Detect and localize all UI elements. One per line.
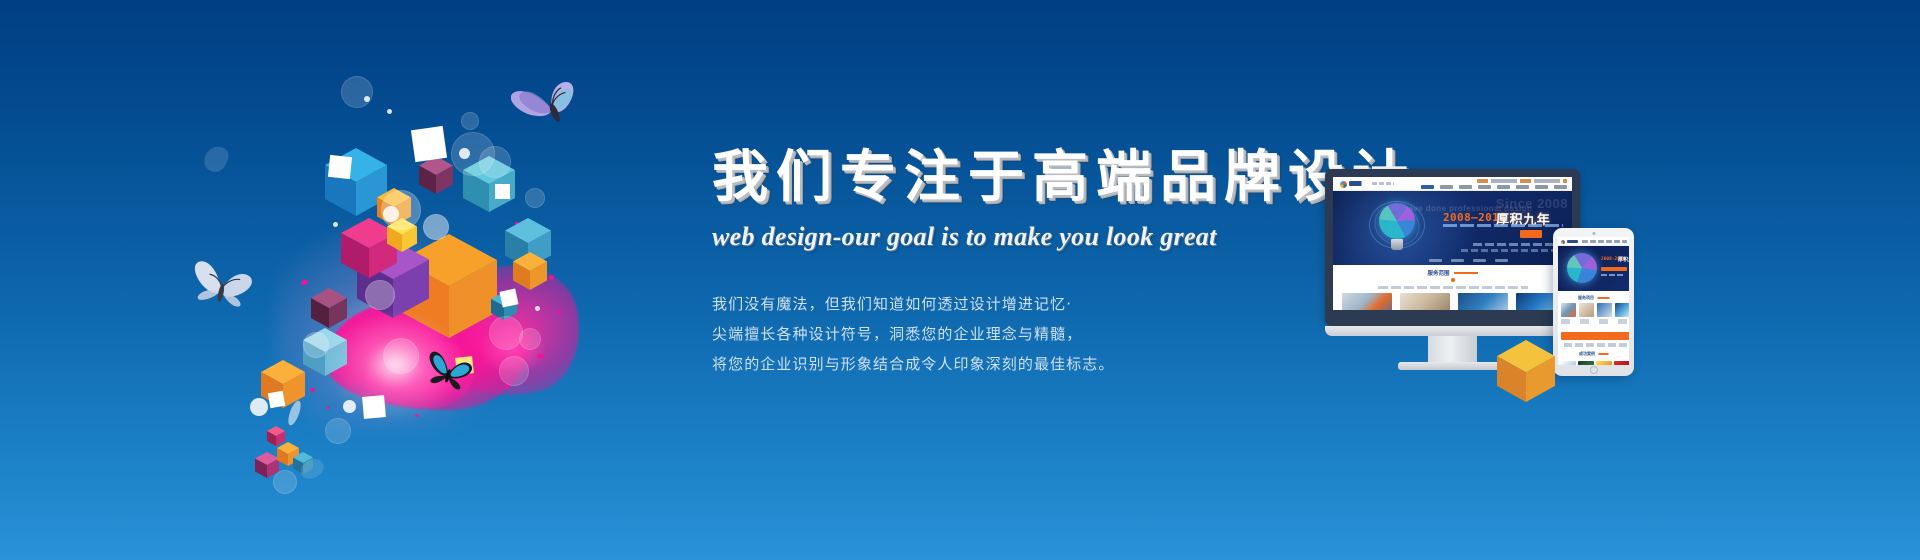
- white-square: [495, 184, 510, 199]
- website-preview: Since 2008 We have done professional des…: [1333, 177, 1572, 310]
- paragraph-line: 尖端擅长各种设计符号，洞悉您的企业理念与精髓，: [712, 319, 1332, 349]
- paragraph-line: 将您的企业识别与形象结合成令人印象深刻的最佳标志。: [712, 349, 1332, 379]
- monitor-stand-neck: [1428, 336, 1477, 364]
- section-heading: 服务范围: [1427, 269, 1477, 277]
- carousel-dot[interactable]: [1495, 259, 1508, 262]
- bubble: [423, 214, 449, 240]
- section-heading: 服务项目: [1578, 295, 1609, 301]
- section-heading-rule: [1598, 353, 1608, 355]
- bubble-solid: [364, 96, 370, 102]
- bubble: [489, 316, 523, 350]
- site-nav-menu[interactable]: [1421, 185, 1567, 189]
- hero-banner: 我们专注于高端品牌设计 web design-our goal is to ma…: [0, 0, 1920, 560]
- site-logo-text: [1567, 240, 1578, 243]
- bubble: [499, 356, 529, 386]
- site-logo-icon: [1561, 240, 1565, 244]
- bubble: [479, 146, 511, 178]
- bubble-solid: [333, 222, 338, 227]
- bubble-solid: [535, 306, 540, 311]
- site-logo-icon: [1340, 181, 1347, 188]
- page-title: 我们专注于高端品牌设计: [712, 150, 1332, 206]
- bubble-solid: [383, 206, 399, 222]
- paint-droplet: [537, 354, 544, 359]
- mobile-screen: 2008-2016 厚积九年 服务项目: [1558, 237, 1629, 365]
- mobile-case-row: [1560, 361, 1629, 365]
- case-thumbnail[interactable]: [1578, 361, 1594, 365]
- mobile-mockup: 2008-2016 厚积九年 服务项目: [1553, 228, 1634, 376]
- device-mockup-group: Since 2008 We have done professional des…: [1325, 160, 1655, 410]
- hero-carousel-dots[interactable]: [1429, 259, 1508, 262]
- hero-paragraph: 我们没有魔法，但我们知道如何透过设计增进记忆· 尖端擅长各种设计符号，洞悉您的企…: [712, 289, 1332, 379]
- nav-item[interactable]: [1459, 185, 1472, 189]
- mobile-navbar: [1558, 237, 1629, 246]
- service-thumbnail[interactable]: [1561, 303, 1576, 317]
- paragraph-line: 我们没有魔法，但我们知道如何透过设计增进记忆·: [712, 289, 1332, 319]
- butterfly-icon: [511, 76, 589, 138]
- site-content-section: 服务范围: [1333, 265, 1572, 310]
- lightbulb-graphic: [1567, 253, 1597, 283]
- nav-item[interactable]: [1535, 185, 1548, 189]
- section-heading-text: 服务项目: [1578, 295, 1594, 301]
- service-thumbnail[interactable]: [1342, 293, 1392, 310]
- front-camera-icon: [1592, 232, 1595, 235]
- service-thumbnail[interactable]: [1400, 293, 1450, 310]
- paint-droplet: [549, 275, 554, 280]
- orange-cube: [1497, 340, 1555, 402]
- nav-item[interactable]: [1421, 185, 1434, 189]
- site-navbar: [1333, 177, 1572, 191]
- bubble: [341, 76, 373, 108]
- carousel-dot[interactable]: [1429, 259, 1442, 262]
- paint-droplet: [557, 310, 561, 314]
- hero-subtext-line: [1473, 243, 1557, 246]
- artwork-fleck: [201, 143, 232, 176]
- case-thumbnail[interactable]: [1614, 361, 1629, 365]
- nav-item[interactable]: [1516, 185, 1529, 189]
- hero-subtext-line: [1601, 274, 1625, 276]
- hero-english-line: [1443, 224, 1563, 227]
- case-thumbnail[interactable]: [1596, 361, 1612, 365]
- mobile-nav-menu[interactable]: [1582, 240, 1627, 243]
- bulb-glass: [1379, 203, 1415, 239]
- site-logo-text: [1349, 181, 1369, 186]
- hero-cta-button[interactable]: [1601, 267, 1627, 271]
- lightbulb-graphic: [1369, 201, 1425, 259]
- carousel-dot[interactable]: [1473, 259, 1486, 262]
- bubble-solid: [250, 398, 268, 416]
- bubble: [461, 112, 479, 130]
- home-button[interactable]: [1590, 366, 1598, 374]
- hero-copy: 我们专注于高端品牌设计 web design-our goal is to ma…: [712, 150, 1332, 379]
- hero-cta-button[interactable]: [1520, 230, 1542, 238]
- section-description: [1378, 286, 1528, 289]
- section-heading-text: 服务范围: [1427, 269, 1449, 277]
- site-contact-info: [1477, 179, 1567, 183]
- mobile-thumbnail-row: [1561, 303, 1629, 317]
- service-thumbnail[interactable]: [1458, 293, 1508, 310]
- carousel-dot[interactable]: [1451, 259, 1464, 262]
- service-thumbnail[interactable]: [1597, 303, 1612, 317]
- butterfly-icon: [187, 260, 257, 316]
- site-logo-subtext: [1372, 182, 1394, 185]
- mobile-banner-strip[interactable]: [1561, 332, 1629, 340]
- bubble: [273, 470, 297, 494]
- paint-droplet: [310, 388, 315, 392]
- mobile-text-line: [1564, 343, 1629, 347]
- mobile-hero-banner: 2008-2016 厚积九年: [1558, 246, 1629, 291]
- iso-cube-right-orange: [513, 252, 547, 290]
- bubble: [519, 328, 541, 350]
- butterfly-icon: [423, 350, 475, 394]
- monitor-chin: [1325, 326, 1580, 336]
- section-heading: 成功案例: [1579, 351, 1608, 357]
- monitor-bezel: Since 2008 We have done professional des…: [1325, 169, 1580, 326]
- section-heading-rule: [1597, 297, 1609, 299]
- white-square: [500, 289, 519, 308]
- desktop-mockup: Since 2008 We have done professional des…: [1325, 169, 1580, 369]
- thumbnail-captions: [1561, 319, 1629, 324]
- page-subtitle: web design-our goal is to make you look …: [712, 222, 1332, 252]
- section-accent-dot: [1451, 278, 1455, 282]
- bulb-base: [1391, 239, 1403, 250]
- abstract-artwork: [215, 70, 615, 470]
- section-heading-rule: [1454, 272, 1478, 274]
- service-thumbnail-row: [1342, 293, 1566, 310]
- case-thumbnail[interactable]: [1560, 361, 1576, 365]
- monitor-screen: Since 2008 We have done professional des…: [1333, 177, 1572, 310]
- nav-item[interactable]: [1440, 185, 1453, 189]
- white-square: [411, 126, 447, 162]
- nav-item[interactable]: [1478, 185, 1491, 189]
- section-heading-text: 成功案例: [1579, 351, 1595, 357]
- nav-item[interactable]: [1497, 185, 1510, 189]
- white-square: [328, 155, 352, 179]
- iso-cube-small-plum: [419, 156, 453, 194]
- service-thumbnail[interactable]: [1615, 303, 1629, 317]
- hero-subtext-line: [1461, 249, 1561, 252]
- monitor-stand-foot: [1398, 362, 1507, 370]
- site-hero-banner: Since 2008 We have done professional des…: [1333, 191, 1572, 265]
- iso-cube-tiny-low4: [267, 426, 285, 446]
- service-thumbnail[interactable]: [1579, 303, 1594, 317]
- hero-slogan: 厚积九年: [1618, 256, 1629, 263]
- bubble: [525, 188, 545, 208]
- bubble-solid: [387, 109, 392, 114]
- nav-item[interactable]: [1554, 185, 1567, 189]
- bubble-solid: [459, 148, 470, 159]
- white-square: [268, 391, 285, 408]
